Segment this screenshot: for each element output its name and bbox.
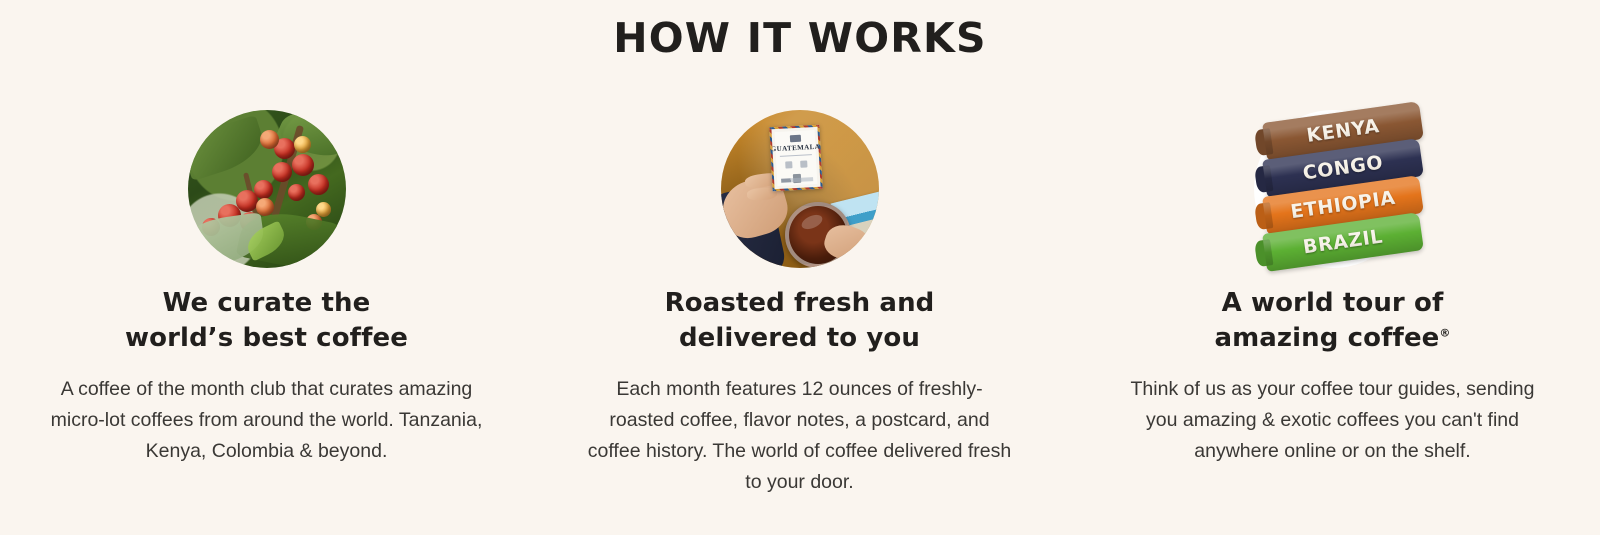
coffee-bag-label: BRAZIL — [1301, 226, 1384, 259]
feature-heading: A world tour of amazing coffee® — [1214, 286, 1450, 356]
feature-column-world-tour: KENYA CONGO ETHIOPIA BRAZIL — [1066, 110, 1599, 498]
coffee-cherries-media — [188, 110, 346, 268]
coffee-bags-media: KENYA CONGO ETHIOPIA BRAZIL — [1254, 110, 1412, 268]
coffee-bag-label: KENYA — [1305, 115, 1381, 147]
coffee-bag-stack: KENYA CONGO ETHIOPIA BRAZIL — [1252, 106, 1424, 278]
coffee-cherry — [292, 154, 314, 176]
feature-heading-line-1: Roasted fresh and — [665, 288, 935, 318]
coffee-cherry — [288, 184, 305, 201]
feature-heading-line-1: A world tour of — [1222, 288, 1444, 318]
feature-columns: We curate the world’s best coffee A coff… — [0, 110, 1600, 498]
feature-column-curate: We curate the world’s best coffee A coff… — [0, 110, 533, 498]
divider — [779, 154, 811, 157]
coffee-tasting-photo: GUATEMALA — [721, 110, 879, 268]
tasting-card-inner: GUATEMALA — [774, 130, 817, 186]
feature-body: A coffee of the month club that curates … — [47, 374, 487, 467]
how-it-works-section: HOW IT WORKS — [0, 0, 1600, 535]
feature-heading-line-1: We curate the — [163, 288, 371, 318]
coffee-cherry — [260, 130, 279, 149]
feature-heading-line-2: amazing coffee — [1214, 323, 1439, 353]
feature-body: Each month features 12 ounces of freshly… — [585, 374, 1015, 498]
tasting-card-footer — [781, 177, 813, 183]
coffee-cherries-photo — [188, 110, 346, 268]
feature-heading-line-2: delivered to you — [679, 323, 920, 353]
cup-highlight — [799, 212, 824, 232]
tasting-card-icons — [785, 160, 807, 168]
coffee-tasting-media: GUATEMALA — [721, 110, 879, 268]
flavor-icon — [785, 161, 792, 168]
tasting-card-country: GUATEMALA — [770, 143, 820, 154]
section-title: HOW IT WORKS — [0, 12, 1600, 64]
feature-heading-line-2: world’s best coffee — [125, 323, 408, 353]
brand-logo-icon — [789, 135, 800, 143]
leaf-shape — [188, 115, 269, 182]
feature-body: Think of us as your coffee tour guides, … — [1123, 374, 1543, 467]
coffee-cherry — [308, 174, 329, 195]
tasting-card: GUATEMALA — [769, 125, 822, 192]
coffee-cherry — [272, 162, 292, 182]
coffee-cherry — [294, 136, 311, 153]
process-icon — [800, 160, 807, 167]
coffee-bag-label: CONGO — [1301, 151, 1384, 184]
feature-column-roasted: GUATEMALA — [533, 110, 1066, 498]
feature-heading: We curate the world’s best coffee — [125, 286, 408, 356]
feature-heading: Roasted fresh and delivered to you — [665, 286, 935, 356]
registered-trademark: ® — [1439, 326, 1450, 339]
